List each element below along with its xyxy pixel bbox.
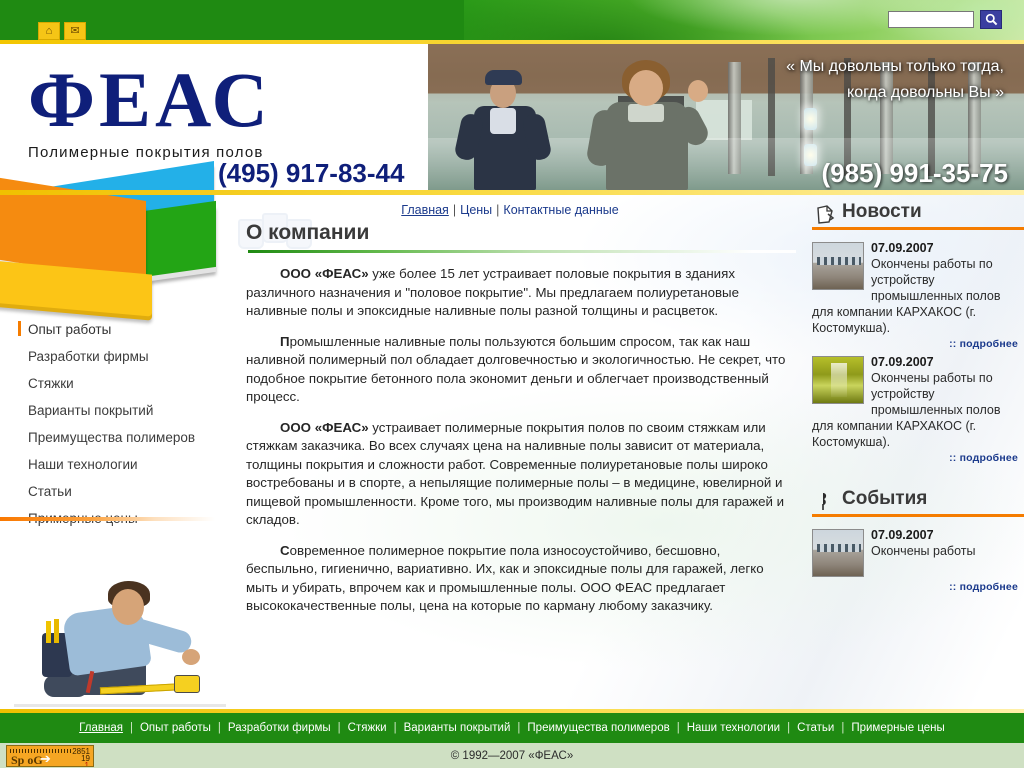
list-item[interactable]: 07.09.2007 Окончены работы по устройству… (812, 240, 1022, 350)
footer-item-experience[interactable]: Опыт работы (140, 722, 211, 734)
breadcrumb-item-prices[interactable]: Цены (460, 203, 492, 217)
page-root: ⌂ ✉ (0, 0, 1024, 768)
event-more-link[interactable]: :: подробнее (812, 579, 1022, 593)
paragraph-lead: ООО «ФЕАС» (280, 420, 369, 435)
news-section-header: Новости (812, 195, 1012, 227)
spylog-counter[interactable]: Sp oG ➔ 2851 19 1 (6, 745, 94, 767)
footer-separator: | (218, 722, 221, 734)
sidebar-item-label: Статьи (28, 484, 72, 499)
copyright: © 1992—2007 «ФЕАС» (451, 750, 573, 762)
top-bar: ⌂ ✉ (0, 0, 1024, 40)
news-thumbnail[interactable] (812, 242, 864, 290)
more-label: :: подробнее (949, 581, 1018, 593)
paragraph-4: Современное полимерное покрытие пола изн… (246, 542, 788, 616)
footer-item-technologies[interactable]: Наши технологии (687, 722, 780, 734)
events-title: События (842, 488, 927, 509)
breadcrumb-item-contacts[interactable]: Контактные данные (503, 203, 618, 217)
paragraph-3: ООО «ФЕАС» устраивает полимерные покрыти… (246, 419, 788, 530)
footer-separator: | (394, 722, 397, 734)
event-thumbnail[interactable] (812, 529, 864, 577)
mail-icon[interactable]: ✉ (64, 22, 86, 40)
sidebar-item-experience[interactable]: Опыт работы (22, 316, 227, 343)
logo-text: ФЕАС (28, 58, 272, 142)
title-underline (248, 250, 796, 253)
sidebar-nav: Опыт работы Разработки фирмы Стяжки Вари… (22, 316, 227, 532)
list-item[interactable]: 07.09.2007 Окончены работы по устройству… (812, 354, 1022, 464)
sidebar-item-coating-options[interactable]: Варианты покрытий (22, 397, 227, 424)
search-area (888, 10, 1002, 29)
news-title: Новости (842, 201, 922, 222)
home-icon[interactable]: ⌂ (38, 22, 60, 40)
sidebar-item-screeds[interactable]: Стяжки (22, 370, 227, 397)
sidebar-item-developments[interactable]: Разработки фирмы (22, 343, 227, 370)
footer-nav: Главная|Опыт работы|Разработки фирмы|Стя… (0, 713, 1024, 743)
paragraph-lead: ООО «ФЕАС» (280, 266, 369, 281)
pin-icon (814, 490, 836, 512)
footer-separator: | (130, 722, 133, 734)
sidebar-item-label: Разработки фирмы (28, 349, 149, 364)
tagline: « Мы довольны только тогда, когда доволь… (604, 54, 1004, 106)
tagline-line-2: когда довольны Вы » (604, 80, 1004, 106)
sidebar-item-polymer-advantages[interactable]: Преимущества полимеров (22, 424, 227, 451)
worker-photo (14, 563, 226, 711)
sidebar-item-articles[interactable]: Статьи (22, 478, 227, 505)
footer-item-prices[interactable]: Примерные цены (851, 722, 944, 734)
footer-item-coating-options[interactable]: Варианты покрытий (404, 722, 511, 734)
top-bar-icons: ⌂ ✉ (38, 22, 86, 40)
events-underline (812, 514, 1024, 517)
footer-item-developments[interactable]: Разработки фирмы (228, 722, 331, 734)
phone-primary: (495) 917-83-44 (218, 158, 404, 189)
paragraph-1: ООО «ФЕАС» уже более 15 лет устраивает п… (246, 265, 788, 321)
site-logo[interactable]: ФЕАС Полимерные покрытия полов (28, 58, 272, 161)
footer-bottom: © 1992—2007 «ФЕАС» (0, 743, 1024, 768)
breadcrumb: Главная|Цены|Контактные данные (230, 203, 790, 217)
news-thumbnail[interactable] (812, 356, 864, 404)
sidebar-item-label: Преимущества полимеров (28, 430, 195, 445)
footer-item-articles[interactable]: Статьи (797, 722, 834, 734)
phone-secondary: (985) 991-35-75 (822, 158, 1008, 189)
more-label: :: подробнее (949, 338, 1018, 350)
breadcrumb-item-home[interactable]: Главная (401, 203, 449, 217)
search-input[interactable] (888, 11, 974, 28)
paragraph-text: ромышленные наливные полы пользуются бол… (246, 334, 785, 405)
footer-separator: | (677, 722, 680, 734)
search-icon[interactable] (980, 10, 1002, 29)
news-more-link[interactable]: :: подробнее (812, 336, 1022, 350)
sidebar-item-label: Стяжки (28, 376, 74, 391)
sidebar-item-technologies[interactable]: Наши технологии (22, 451, 227, 478)
sidebar-item-label: Варианты покрытий (28, 403, 153, 418)
counter-brand: Sp oG (11, 753, 43, 767)
counter-now: 1 (85, 761, 89, 767)
tagline-line-1: « Мы довольны только тогда, (604, 54, 1004, 80)
paragraph-text: овременное полимерное покрытие пола изно… (246, 543, 764, 614)
list-item[interactable]: 07.09.2007 Окончены работы :: подробнее (812, 527, 1022, 593)
main-column: Главная|Цены|Контактные данные О компани… (230, 195, 800, 713)
paragraph-2: Промышленные наливные полы пользуются бо… (246, 333, 788, 407)
article-body: ООО «ФЕАС» уже более 15 лет устраивает п… (246, 265, 788, 628)
header-divider (0, 190, 1024, 195)
hall-lamp (804, 108, 817, 130)
sidebar-item-label: Наши технологии (28, 457, 138, 472)
page-title: О компании (246, 221, 369, 245)
counter-arrow-icon: ➔ (40, 751, 51, 767)
paragraph-lead: П (280, 334, 290, 349)
person-worker (454, 64, 558, 190)
footer-item-home[interactable]: Главная (79, 722, 123, 734)
footer-separator: | (338, 722, 341, 734)
footer-separator: | (841, 722, 844, 734)
events-section-header: События (812, 482, 1012, 514)
clipboard-icon (814, 203, 836, 225)
right-column: Новости 07.09.2007 Окончены работы по ус… (800, 195, 1024, 713)
footer-item-polymer-advantages[interactable]: Преимущества полимеров (527, 722, 669, 734)
breadcrumb-separator: | (453, 203, 456, 217)
more-label: :: подробнее (949, 452, 1018, 464)
paragraph-text: устраивает полимерные покрытия полов по … (246, 420, 784, 528)
footer-separator: | (517, 722, 520, 734)
footer-separator: | (787, 722, 790, 734)
sidebar-divider (0, 517, 215, 521)
news-more-link[interactable]: :: подробнее (812, 450, 1022, 464)
news-underline (812, 227, 1024, 230)
footer-item-screeds[interactable]: Стяжки (348, 722, 387, 734)
sidebar-item-label: Опыт работы (28, 322, 111, 337)
breadcrumb-separator: | (496, 203, 499, 217)
paragraph-lead: С (280, 543, 290, 558)
